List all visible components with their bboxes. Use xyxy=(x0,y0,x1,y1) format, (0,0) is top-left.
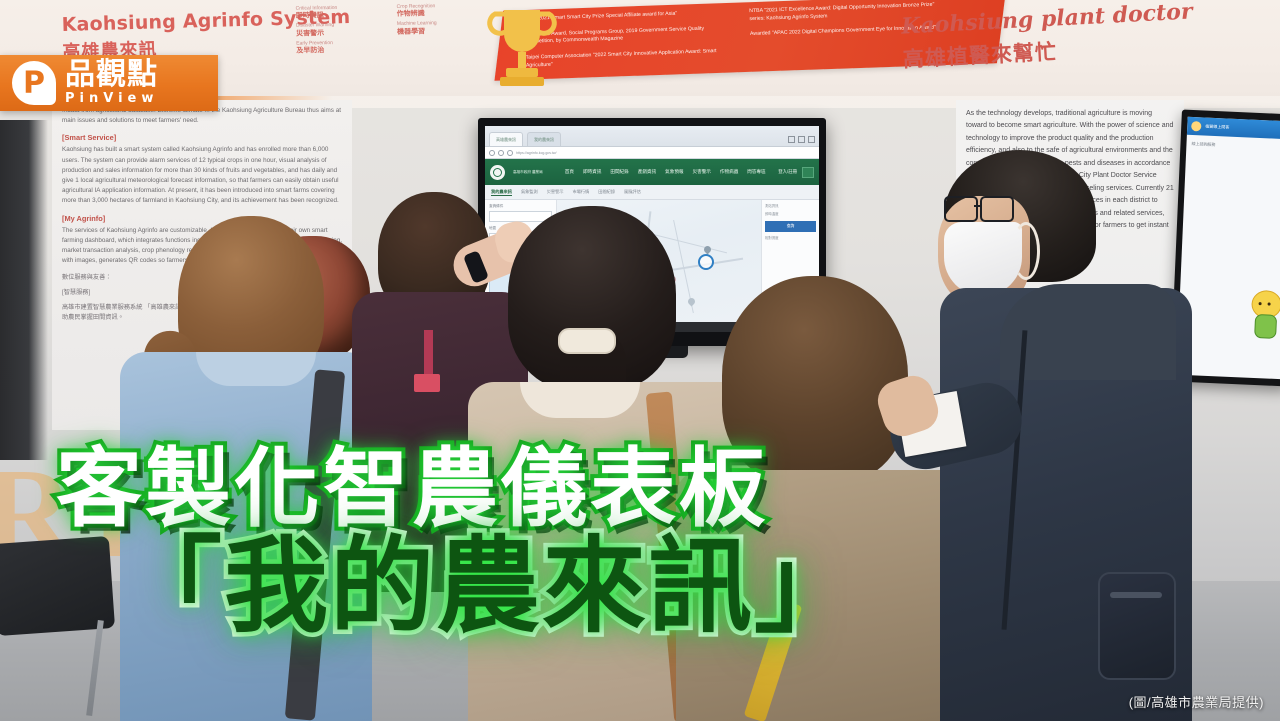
tab-my-agrinfo[interactable]: 我的農來訊 xyxy=(491,189,512,196)
person-staff-lanyard xyxy=(424,330,433,380)
left-dark-edge xyxy=(0,120,48,460)
menu-burger-icon[interactable] xyxy=(802,167,814,178)
minimize-icon[interactable] xyxy=(788,136,795,143)
maximize-icon[interactable] xyxy=(798,136,805,143)
person-cardigan-collar xyxy=(520,382,640,418)
nav-item-3[interactable]: 產銷資訊 xyxy=(638,169,656,175)
tab-disaster[interactable]: 災害警示 xyxy=(547,189,564,195)
login-link[interactable]: 登入/註冊 xyxy=(778,169,797,175)
poster-left-heading-smart-service: [Smart Service] xyxy=(62,133,342,142)
headline-line-2: 「我的農來訊」 xyxy=(118,534,956,638)
browser-tab-1[interactable]: 我的農來訊 xyxy=(527,132,561,146)
photo-credit: (圖/高雄市農業局提供) xyxy=(1129,692,1264,711)
poster-left-body-smart-service: Kaohsiung has built a smart system calle… xyxy=(62,145,342,206)
poster-left-heading-my-agrinfo: [My Agrinfo] xyxy=(62,214,342,223)
filter-label-query: 查詢條件 xyxy=(489,204,552,209)
site-logo-icon[interactable] xyxy=(490,165,505,180)
eyeglasses-lens xyxy=(944,196,978,222)
tab-field-record[interactable]: 田間紀錄 xyxy=(598,189,615,195)
window-controls[interactable] xyxy=(788,136,815,146)
tab-risk[interactable]: 風險評估 xyxy=(624,189,641,195)
address-url[interactable]: https://agrinfo.kcg.gov.tw/ xyxy=(516,151,556,155)
feature-item: Early Prevention 及早防治 xyxy=(296,39,385,56)
site-navbar: 高雄市政府 農業局 首頁 即時資訊 田間紀錄 產銷資訊 氣象預報 災害警示 作物… xyxy=(485,159,819,185)
address-bar[interactable]: https://agrinfo.kcg.gov.tw/ xyxy=(485,147,819,159)
map-selected-marker-icon[interactable] xyxy=(698,254,714,270)
mascot-icon xyxy=(1248,290,1280,339)
rail-info-1: 即時溫度 xyxy=(765,212,816,217)
back-icon[interactable] xyxy=(489,150,495,156)
person-man-belt-pouch xyxy=(1098,572,1176,680)
nav-item-5[interactable]: 災害警示 xyxy=(693,169,711,175)
pinview-logo-zh: 品觀點 xyxy=(65,58,158,91)
mascot-eye xyxy=(1268,302,1271,305)
pinview-logo-icon xyxy=(12,61,56,105)
right-screen-title: 植醫線上問答 xyxy=(1205,124,1229,131)
person-cardigan-hair-tie xyxy=(558,328,616,354)
feature-item: Critical Information 即時資訊 xyxy=(296,4,385,21)
pinview-logo-en: PinView xyxy=(65,91,158,106)
site-nav-right: 登入/註冊 xyxy=(778,167,814,178)
query-button[interactable]: 查詢 xyxy=(765,221,816,232)
nav-item-2[interactable]: 田間紀錄 xyxy=(610,169,628,175)
nav-item-1[interactable]: 即時資訊 xyxy=(583,169,601,175)
close-icon[interactable] xyxy=(808,136,815,143)
map-pin-icon[interactable] xyxy=(702,245,712,255)
browser-tab-0[interactable]: 高雄農來訊 xyxy=(489,132,523,146)
nav-item-0[interactable]: 首頁 xyxy=(565,169,574,175)
eyeglasses-lens xyxy=(980,196,1014,222)
avatar xyxy=(1191,121,1201,131)
nav-item-6[interactable]: 作物病蟲 xyxy=(720,169,738,175)
nav-item-7[interactable]: 問答專區 xyxy=(747,169,765,175)
poster-feature-grid: Critical Information 即時資訊 Crop Recogniti… xyxy=(296,2,487,55)
person-staff-badge xyxy=(414,374,440,392)
browser-chrome: 高雄農來訊 我的農來訊 xyxy=(485,126,819,147)
rail-info-2: 相對濕度 xyxy=(765,236,816,241)
right-screen-body: 線上諮詢服務 xyxy=(1186,135,1280,158)
eyeglasses-icon xyxy=(944,196,1016,222)
headline-caption: 客製化智農儀表板 「我的農來訊」 xyxy=(56,446,956,638)
forward-icon[interactable] xyxy=(498,150,504,156)
trophy-icon xyxy=(486,4,558,90)
person-man-mask-earloop xyxy=(1012,222,1040,280)
tab-market[interactable]: 市場行情 xyxy=(572,189,589,195)
feature-item: Disaster Warning 災害警示 xyxy=(296,21,385,38)
mascot-body xyxy=(1254,314,1277,339)
reload-icon[interactable] xyxy=(507,150,513,156)
poster-title-right: Kaohsiung plant doctor 高雄植醫來幫忙 xyxy=(901,0,1195,74)
feature-item: Machine Learning 機器學習 xyxy=(397,20,486,37)
nav-item-4[interactable]: 氣象預報 xyxy=(665,169,683,175)
rail-info-0: 測站資訊 xyxy=(765,204,816,209)
pinview-logo-text: 品觀點 PinView xyxy=(65,60,208,106)
sub-tab-bar: 我的農來訊 氣象監測 災害警示 市場行情 田間紀錄 風險評估 xyxy=(485,185,819,200)
mascot-eye xyxy=(1259,302,1262,305)
site-nav-menu: 首頁 即時資訊 田間紀錄 產銷資訊 氣象預報 災害警示 作物病蟲 問答專區 xyxy=(565,169,766,175)
headline-line-1: 客製化智農儀表板 xyxy=(56,446,956,532)
map-pin-icon[interactable] xyxy=(686,296,696,306)
tab-weather[interactable]: 氣象監測 xyxy=(521,189,538,195)
news-photo-stage: RI T Kaohsiung Agrinfo System 高雄農來訊 Crit… xyxy=(0,0,1280,721)
site-brand-label: 高雄市政府 農業局 xyxy=(513,170,543,175)
pinview-logo[interactable]: 品觀點 PinView xyxy=(0,55,218,111)
feature-item: Crop Recognition 作物辨識 xyxy=(397,2,486,19)
person-denim-collar xyxy=(196,352,316,386)
